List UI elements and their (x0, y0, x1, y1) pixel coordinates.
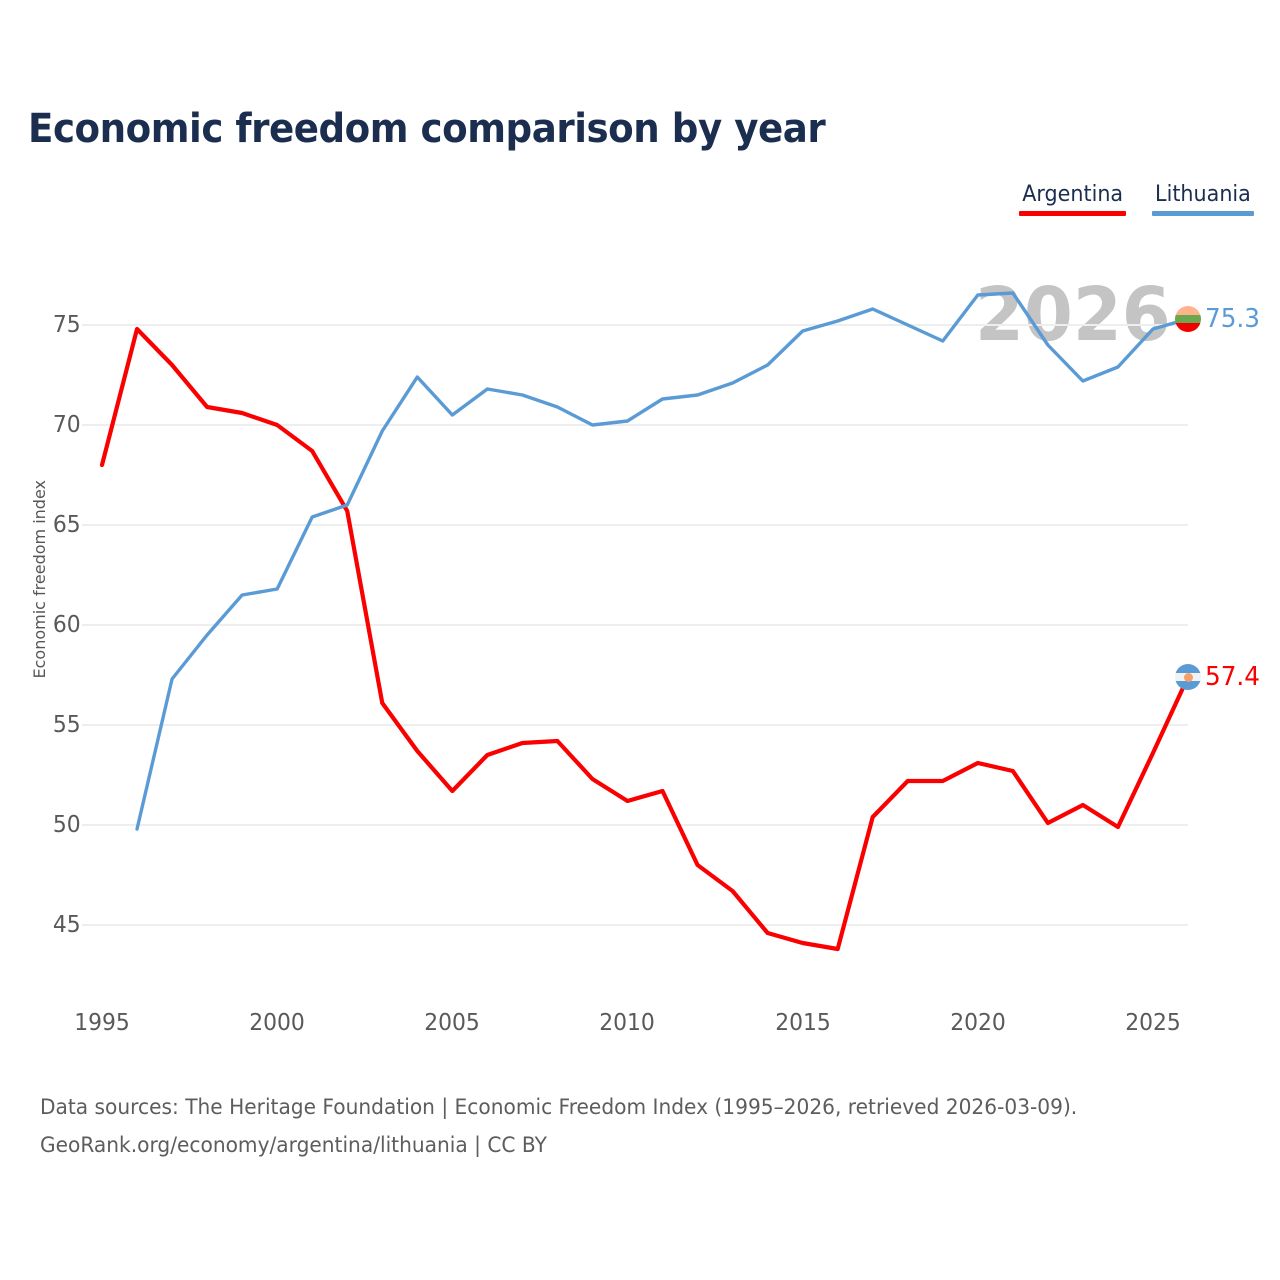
footer-line-2: GeoRank.org/economy/argentina/lithuania … (40, 1126, 1077, 1164)
x-tick-label: 2005 (425, 1010, 481, 1036)
y-tick-label: 60 (31, 612, 80, 638)
lithuania-flag-icon (1175, 306, 1201, 332)
y-tick-label: 45 (31, 912, 80, 938)
y-tick-label: 70 (31, 412, 80, 438)
series-line-argentina (102, 329, 1188, 949)
x-tick-label: 2015 (775, 1010, 831, 1036)
argentina-endpoint[interactable]: 57.4 (1175, 662, 1263, 692)
lithuania-endpoint[interactable]: 75.3 (1175, 304, 1263, 334)
x-tick-label: 2000 (249, 1010, 305, 1036)
y-tick-label: 55 (31, 712, 80, 738)
x-tick-label: 2025 (1125, 1010, 1181, 1036)
y-tick-label: 75 (31, 312, 80, 338)
y-tick-label: 50 (31, 812, 80, 838)
footer-attribution: Data sources: The Heritage Foundation | … (40, 1088, 1077, 1164)
lithuania-endpoint-value: 75.3 (1205, 304, 1260, 334)
x-tick-label: 2010 (600, 1010, 656, 1036)
chart-page: Economic freedom comparison by year Arge… (0, 0, 1280, 1280)
argentina-flag-icon (1175, 664, 1201, 690)
x-tick-label: 2020 (950, 1010, 1006, 1036)
footer-line-1: Data sources: The Heritage Foundation | … (40, 1088, 1077, 1126)
x-tick-label: 1995 (74, 1010, 130, 1036)
series-line-lithuania (137, 293, 1188, 829)
y-tick-label: 65 (31, 512, 80, 538)
argentina-endpoint-value: 57.4 (1205, 662, 1260, 692)
